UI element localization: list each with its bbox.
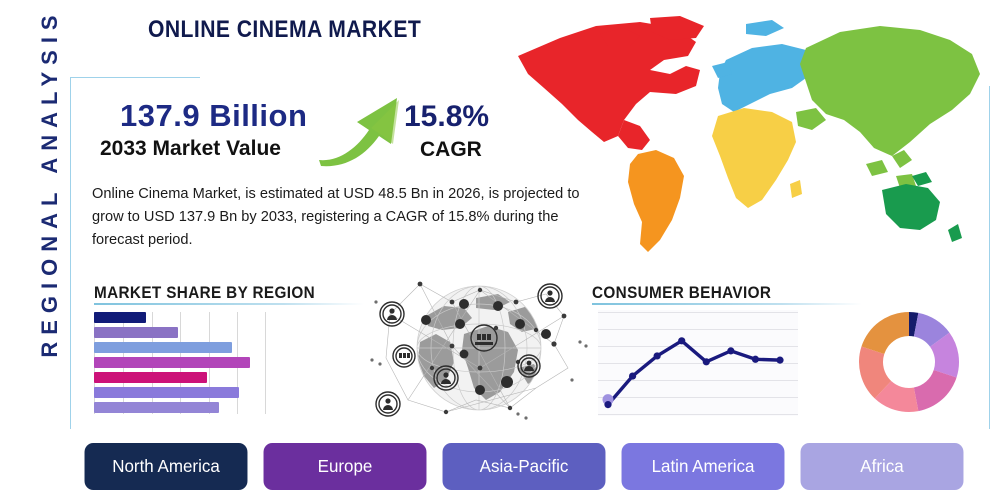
bar-row: [94, 402, 219, 413]
region-button-asia-pacific[interactable]: Asia-Pacific: [443, 443, 606, 490]
market-description: Online Cinema Market, is estimated at US…: [92, 183, 582, 252]
section-rule-market-share: [94, 303, 364, 305]
bar-row: [94, 342, 232, 353]
section-rule-consumer-behavior: [592, 303, 862, 305]
kpi-cagr-label: CAGR: [420, 138, 482, 162]
page-title: ONLINE CINEMA MARKET: [148, 16, 421, 44]
region-button-africa[interactable]: Africa: [801, 443, 964, 490]
market-share-bar-chart: [94, 312, 266, 414]
consumer-behavior-line-chart: [598, 310, 798, 416]
kpi-market-value-label: 2033 Market Value: [100, 137, 281, 161]
side-label-regional-analysis: REGIONAL ANALYSIS: [37, 0, 63, 393]
bar-row: [94, 372, 207, 383]
region-button-group[interactable]: North AmericaEuropeAsia-PacificLatin Ame…: [82, 443, 966, 490]
regional-donut-chart: [857, 310, 961, 414]
growth-arrow-icon: [313, 88, 409, 168]
section-title-market-share: MARKET SHARE BY REGION: [94, 283, 315, 303]
bar-row: [94, 312, 146, 323]
kpi-market-value: 137.9 Billion: [120, 98, 307, 134]
bar-row: [94, 387, 239, 398]
section-title-consumer-behavior: CONSUMER BEHAVIOR: [592, 283, 771, 303]
line-series: [598, 310, 798, 416]
bar-row: [94, 327, 178, 338]
region-button-latin-america[interactable]: Latin America: [622, 443, 785, 490]
global-network-icon: [368, 272, 590, 424]
bar-row: [94, 357, 250, 368]
region-button-europe[interactable]: Europe: [264, 443, 427, 490]
region-button-north-america[interactable]: North America: [85, 443, 248, 490]
kpi-cagr-value: 15.8%: [404, 100, 489, 134]
infographic-root: REGIONAL ANALYSIS ONLINE CINEMA MARKET 1…: [0, 0, 1000, 500]
